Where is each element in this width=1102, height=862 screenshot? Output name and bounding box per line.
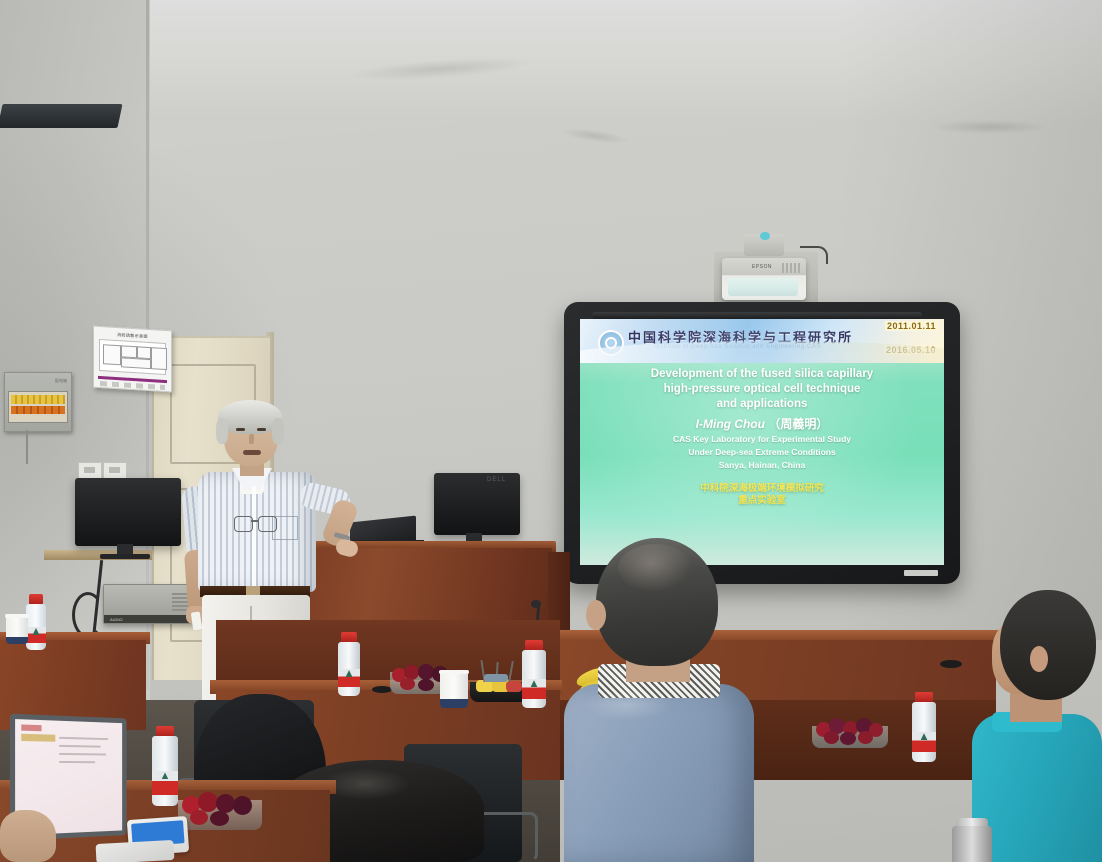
computer-monitor-left[interactable]: [75, 478, 181, 546]
breaker-window: [8, 391, 68, 423]
bottle-body: [152, 736, 178, 806]
amplifier-label: AUDIO: [110, 617, 123, 622]
electrical-distribution-box[interactable]: 配电箱: [4, 372, 72, 432]
table-cable-grommet: [372, 686, 392, 693]
wall-socket[interactable]: [103, 462, 127, 479]
projector: EPSON: [722, 258, 806, 300]
bottle-label: [912, 732, 936, 752]
audience-right-hair: [1000, 590, 1096, 700]
presenter-hair-side: [216, 418, 228, 444]
presenter-eye: [257, 428, 266, 431]
bottle-body: [912, 702, 936, 762]
thermos-flask[interactable]: [952, 826, 992, 862]
breaker-row: [11, 406, 65, 414]
bottle-body: [26, 604, 46, 650]
water-bottle[interactable]: [912, 692, 936, 762]
tablet-header-band: [21, 724, 41, 731]
floorplan-diagram: [99, 339, 166, 375]
projector-brand-label: EPSON: [752, 264, 772, 270]
audience-member-center: [556, 538, 756, 862]
wall-mark: [930, 120, 1050, 134]
breaker-row: [11, 395, 65, 404]
audience-member-right: [972, 590, 1102, 862]
audience-right-ear: [1030, 646, 1048, 672]
whiteboard-brand-sticker: [904, 570, 938, 576]
cup-rim: [439, 670, 469, 674]
bottle-label: [522, 679, 546, 699]
water-bottle[interactable]: [338, 632, 360, 696]
eyeglass-bridge: [251, 520, 258, 522]
podium-monitor[interactable]: DELL: [434, 473, 520, 535]
presenter-mouth: [243, 450, 261, 455]
water-bottle[interactable]: [26, 594, 46, 650]
monitor-brand-label: DELL: [487, 477, 506, 483]
tablet-keyboard-case[interactable]: [0, 104, 123, 128]
table-cable-grommet: [940, 660, 962, 668]
tablet-highlight-block: [21, 734, 55, 742]
whiteboard-display-area: 中国科学院深海科学与工程研究所 Institute of Deep-sea Sc…: [580, 319, 944, 565]
fruit-garnish: [484, 674, 508, 682]
fruit-plate-grapes[interactable]: [812, 712, 888, 748]
projector-vent: [782, 263, 800, 273]
bottle-label: [338, 669, 360, 687]
presenter-shirt-placket: [252, 486, 256, 586]
fruit-bowl-skewers[interactable]: [470, 660, 528, 702]
projector-lens: [728, 278, 798, 296]
eyeglasses-icon: [234, 512, 276, 534]
presentation-slide: 中国科学院深海科学与工程研究所 Institute of Deep-sea Sc…: [580, 319, 944, 565]
smartphone-secondary[interactable]: [96, 840, 175, 862]
bottle-label: [26, 627, 46, 643]
audience-center-scalp-highlight: [618, 544, 692, 592]
water-bottle[interactable]: [152, 726, 178, 806]
monitor-stand-base: [100, 554, 150, 559]
wall-socket[interactable]: [78, 462, 102, 479]
projector-mount-knob: [760, 232, 770, 240]
cup-band: [6, 637, 28, 644]
water-bottle[interactable]: [522, 640, 546, 708]
skewer: [508, 661, 514, 682]
bottle-body: [338, 642, 360, 696]
bottle-logo-icon: [346, 670, 353, 677]
eyeglass-lens-right: [258, 516, 277, 532]
bottle-logo-icon: [921, 733, 928, 740]
presentation-photo-scene: 消防疏散示意图 配电箱 EPSON: [0, 0, 1102, 862]
cup-band: [440, 699, 468, 708]
wall-conduit: [26, 430, 28, 464]
presenter-eye: [236, 428, 245, 431]
bottle-logo-icon: [33, 628, 40, 635]
paper-cup[interactable]: [440, 672, 468, 708]
attendee-hand: [0, 810, 56, 862]
eyeglass-lens-left: [234, 516, 253, 532]
fruit-plate-cherries[interactable]: [178, 782, 262, 830]
bottle-logo-icon: [531, 680, 538, 687]
whiteboard-sensor-bar: [592, 312, 922, 319]
projection-glare: [580, 319, 944, 565]
presenter-nose: [249, 434, 254, 444]
microphone-head: [531, 600, 541, 608]
cup-rim: [5, 614, 29, 618]
bottle-body: [522, 650, 546, 708]
audience-center-ear: [586, 600, 606, 630]
evacuation-floorplan-sign: 消防疏散示意图: [93, 326, 172, 393]
presenter-hair-side: [272, 418, 284, 444]
bottle-label: [152, 771, 178, 795]
electrical-panel-label: 配电箱: [55, 378, 67, 384]
bottle-logo-icon: [162, 772, 169, 779]
paper-cup[interactable]: [6, 616, 28, 644]
shoulder-highlight: [582, 690, 672, 720]
